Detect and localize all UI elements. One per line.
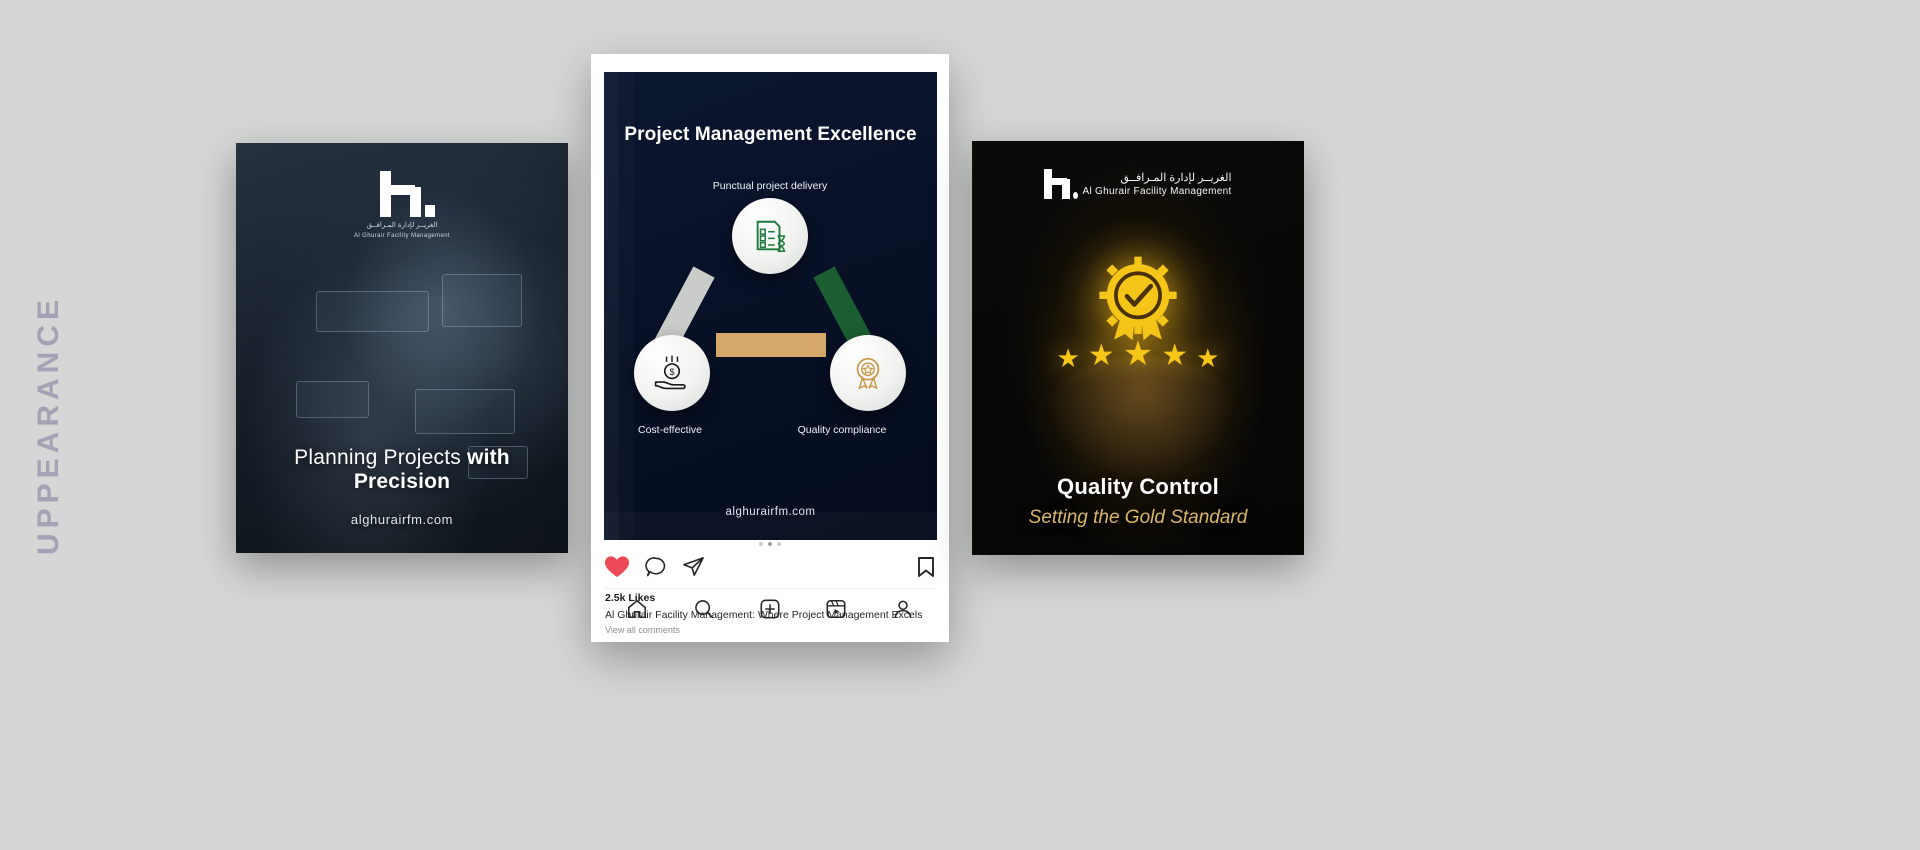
badge-container xyxy=(972,253,1304,345)
logo-arabic-text: الغريــر لإدارة المـرافــق xyxy=(1082,171,1231,184)
star-icon: ★ xyxy=(1196,345,1219,371)
profile-icon[interactable] xyxy=(892,598,914,620)
carousel-dot[interactable] xyxy=(759,542,763,546)
logo-english-text: Al Ghurair Facility Management xyxy=(1082,186,1231,197)
node-label-bottom-right: Quality compliance xyxy=(762,424,922,436)
home-icon[interactable] xyxy=(626,598,648,620)
al-ghurair-monogram-icon xyxy=(380,171,424,217)
hud-panel-1 xyxy=(316,291,429,332)
star-icon: ★ xyxy=(1161,341,1188,371)
post-image[interactable]: Project Management Excellence Punctual p… xyxy=(604,72,937,540)
hud-panel-4 xyxy=(415,389,515,434)
poster-left-headline: Planning Projects with Precision xyxy=(256,446,548,494)
svg-text:$: $ xyxy=(669,367,674,377)
watermark-label: UPPEARANCE xyxy=(14,0,84,850)
star-icon: ★ xyxy=(1123,337,1153,371)
node-punctual-delivery[interactable] xyxy=(732,198,808,274)
logo-arabic-text: الغريــر لإدارة المـرافــق xyxy=(367,221,438,229)
watermark-text: UPPEARANCE xyxy=(32,295,66,555)
post-slide-title: Project Management Excellence xyxy=(604,124,937,146)
poster-left-website: alghurairfm.com xyxy=(256,512,548,527)
carousel-dot[interactable] xyxy=(777,542,781,546)
reels-icon[interactable] xyxy=(825,598,847,620)
star-icon: ★ xyxy=(1057,345,1080,371)
node-label-bottom-left: Cost-effective xyxy=(604,424,750,436)
checklist-hourglass-icon xyxy=(751,217,789,255)
hand-holding-coin-icon: $ xyxy=(652,354,692,392)
award-ribbon-icon xyxy=(849,354,887,392)
paper-plane-icon[interactable] xyxy=(682,555,705,583)
carousel-dot[interactable] xyxy=(768,542,772,546)
post-website: alghurairfm.com xyxy=(604,506,937,518)
poster-right-logo: الغريــر لإدارة المـرافــق Al Ghurair Fa… xyxy=(972,169,1304,199)
poster-left-caption: Planning Projects with Precision alghura… xyxy=(236,446,568,553)
node-label-top: Punctual project delivery xyxy=(690,180,850,192)
star-icon: ★ xyxy=(1088,341,1115,371)
node-quality-compliance[interactable] xyxy=(830,335,906,411)
rating-stars: ★ ★ ★ ★ ★ xyxy=(972,337,1304,371)
add-post-icon[interactable] xyxy=(759,598,781,620)
bookmark-icon[interactable] xyxy=(916,556,936,583)
headline-light: Planning Projects xyxy=(294,446,467,469)
heart-filled-icon[interactable] xyxy=(604,555,630,584)
connector-bottom xyxy=(716,333,826,357)
instagram-post-card[interactable]: Project Management Excellence Punctual p… xyxy=(591,54,949,642)
triangle-diagram: Punctual project delivery Cost-effective… xyxy=(604,180,937,480)
poster-right-caption: Quality Control Setting the Gold Standar… xyxy=(972,474,1304,555)
poster-left-logo: الغريــر لإدارة المـرافــق Al Ghurair Fa… xyxy=(236,171,568,239)
poster-right[interactable]: الغريــر لإدارة المـرافــق Al Ghurair Fa… xyxy=(972,141,1304,555)
poster-left[interactable]: الغريــر لإدارة المـرافــق Al Ghurair Fa… xyxy=(236,143,568,553)
poster-right-subline: Setting the Gold Standard xyxy=(992,507,1284,529)
al-ghurair-monogram-icon xyxy=(1044,169,1072,199)
logo-english-text: Al Ghurair Facility Management xyxy=(354,233,450,239)
carousel-dots xyxy=(604,542,936,546)
poster-right-headline: Quality Control xyxy=(992,474,1284,500)
comment-bubble-icon[interactable] xyxy=(645,556,667,583)
hud-panel-3 xyxy=(296,381,369,418)
search-icon[interactable] xyxy=(693,598,715,620)
hand-silhouette xyxy=(1045,356,1238,480)
gold-check-badge-icon xyxy=(1092,253,1184,345)
canvas: UPPEARANCE الغريــر لإدارة المـرافــق Al… xyxy=(0,0,1920,850)
bottom-nav-bar xyxy=(604,588,936,628)
node-cost-effective[interactable]: $ xyxy=(634,335,710,411)
post-action-bar xyxy=(604,550,936,588)
hud-panel-2 xyxy=(442,274,522,327)
